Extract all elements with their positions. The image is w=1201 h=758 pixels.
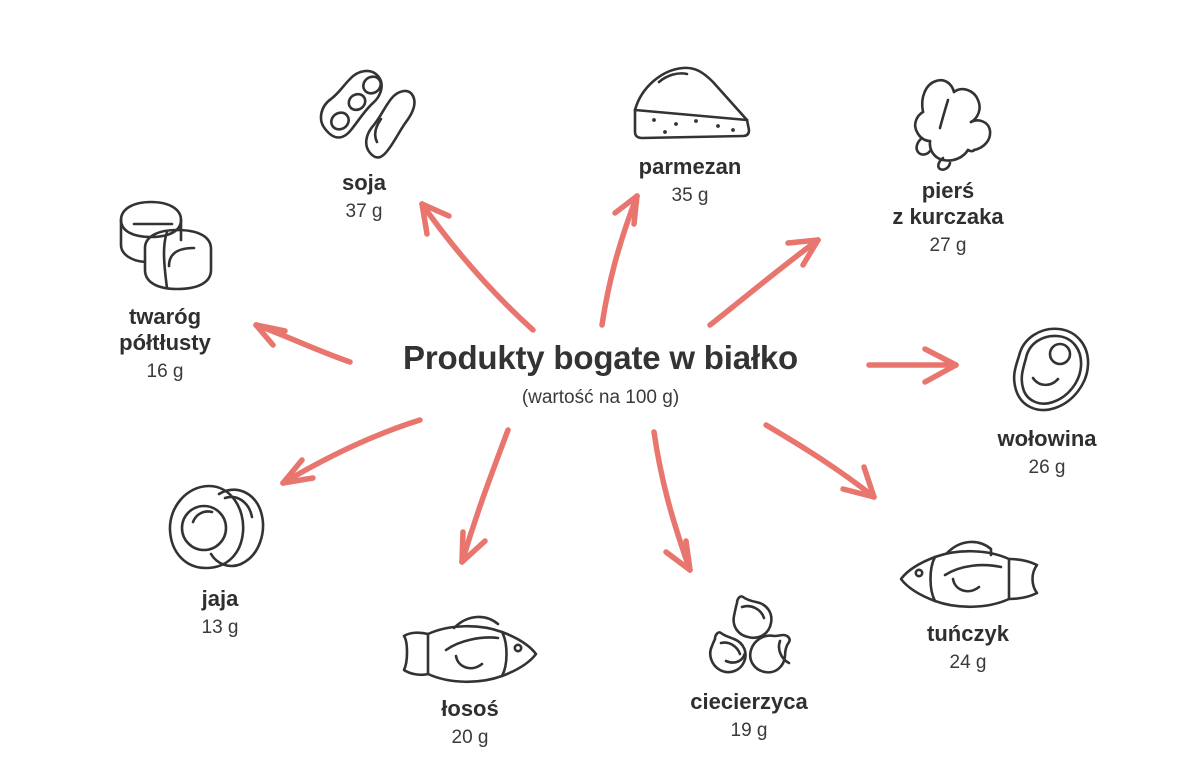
node-label: wołowina (937, 426, 1157, 452)
node-value: 19 g (639, 720, 859, 743)
arrow-to-losos (462, 430, 508, 562)
cheese-wedge-icon (580, 28, 800, 148)
soybean-pods-icon (254, 44, 474, 164)
node-losos[interactable]: łosoś 20 g (360, 570, 580, 750)
chickpeas-icon (639, 563, 859, 683)
node-value: 16 g (55, 361, 275, 384)
node-value: 27 g (838, 235, 1058, 258)
curd-cheese-icon (55, 178, 275, 298)
node-tunczyk[interactable]: tuńczyk 24 g (858, 495, 1078, 675)
node-label: ciecierzyca (639, 689, 859, 715)
arrow-to-kurczak (710, 240, 818, 325)
node-soja[interactable]: soja 37 g (254, 44, 474, 224)
node-value: 35 g (580, 185, 800, 208)
node-value: 37 g (254, 201, 474, 224)
node-value: 20 g (360, 727, 580, 750)
infographic-canvas: Produkty bogate w białko (wartość na 100… (0, 0, 1201, 758)
node-kurczak[interactable]: pierś z kurczaka 27 g (838, 52, 1058, 258)
node-twarog[interactable]: twaróg półtłusty 16 g (55, 178, 275, 384)
tuna-fish-icon (858, 495, 1078, 615)
node-label: łosoś (360, 696, 580, 722)
arrow-to-tunczyk (766, 425, 874, 497)
node-label: tuńczyk (858, 621, 1078, 647)
node-label: soja (254, 170, 474, 196)
salmon-fish-icon (360, 570, 580, 690)
node-label: jaja (110, 586, 330, 612)
node-value: 26 g (937, 457, 1157, 480)
node-jaja[interactable]: jaja 13 g (110, 460, 330, 640)
node-label: twaróg półtłusty (55, 304, 275, 356)
node-label: parmezan (580, 154, 800, 180)
node-label: pierś z kurczaka (838, 178, 1058, 230)
eggs-icon (110, 460, 330, 580)
node-ciecierzyca[interactable]: ciecierzyca 19 g (639, 563, 859, 743)
center-title-block: Produkty bogate w białko (wartość na 100… (291, 340, 911, 409)
arrow-to-ciecierzyca (654, 432, 690, 570)
arrow-to-parmezan (602, 196, 637, 325)
page-subtitle: (wartość na 100 g) (291, 388, 911, 409)
node-value: 24 g (858, 652, 1078, 675)
beef-steak-icon (937, 300, 1157, 420)
node-parmezan[interactable]: parmezan 35 g (580, 28, 800, 208)
node-wolowina[interactable]: wołowina 26 g (937, 300, 1157, 480)
roast-chicken-icon (838, 52, 1058, 172)
node-value: 13 g (110, 617, 330, 640)
page-title: Produkty bogate w białko (291, 340, 911, 376)
